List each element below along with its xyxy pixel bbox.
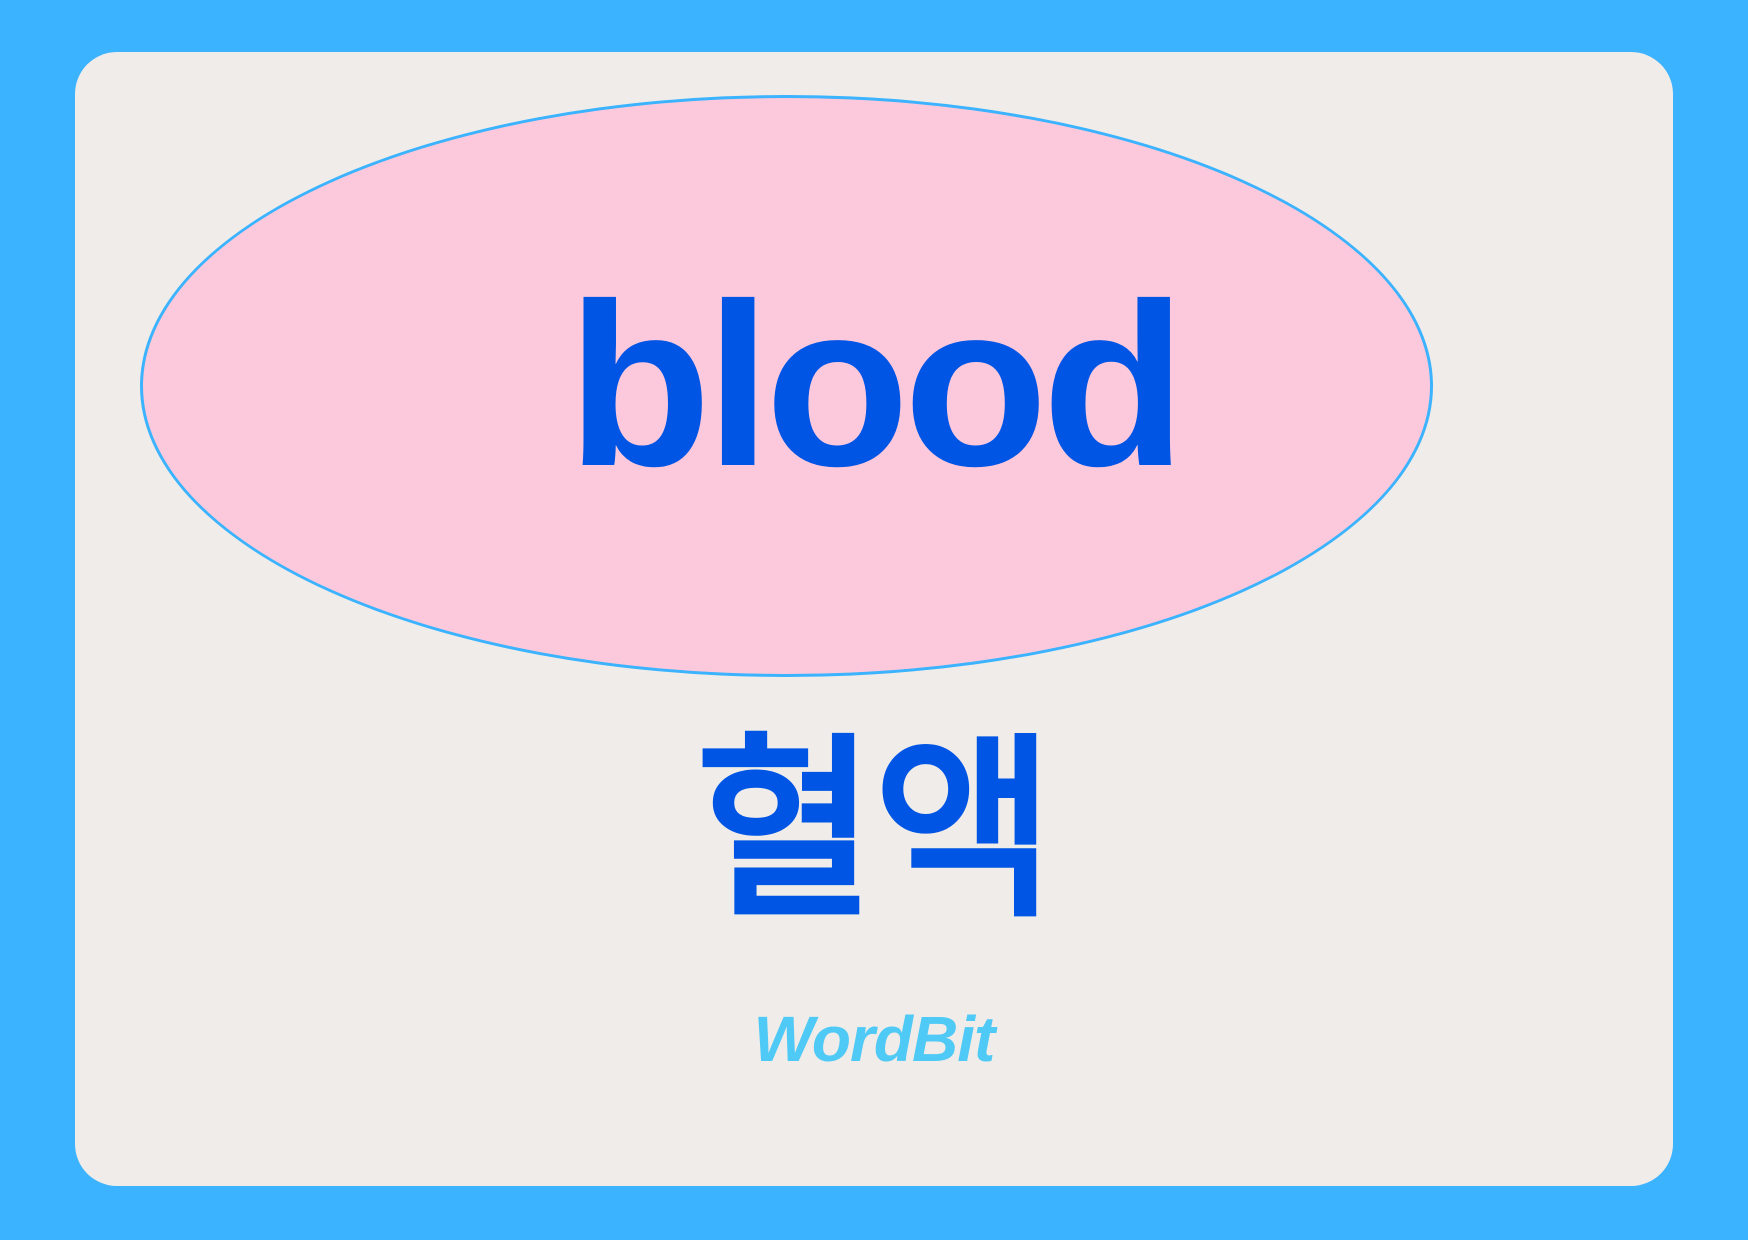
- translation-text: 혈액: [75, 728, 1673, 934]
- headword-ellipse-shape: [140, 95, 1433, 677]
- flashcard[interactable]: blood 혈액 WordBit: [75, 52, 1673, 1186]
- wordbit-logo: WordBit: [75, 1002, 1673, 1076]
- ellipse-outline: [140, 95, 1433, 677]
